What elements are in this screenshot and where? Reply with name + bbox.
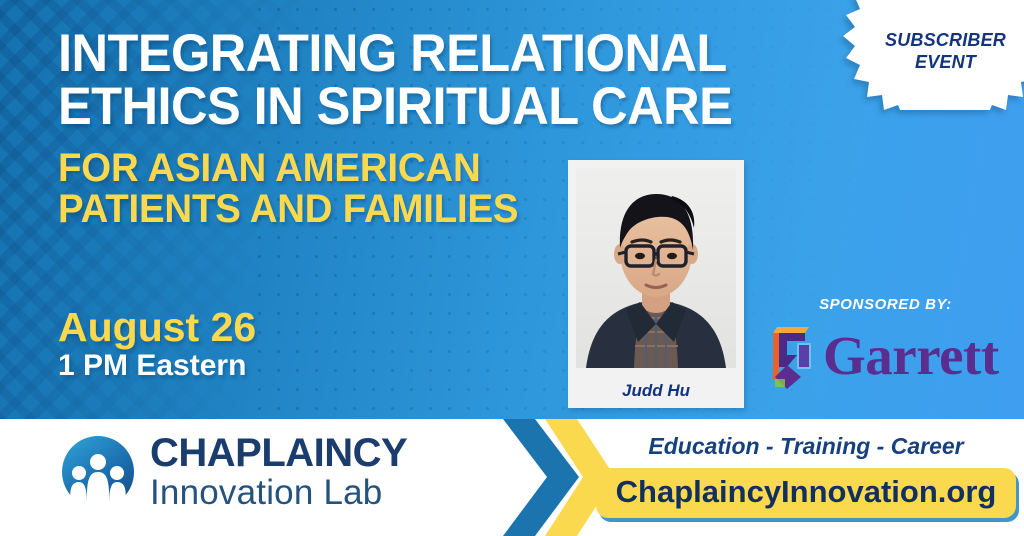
sponsor-logo: Garrett (763, 321, 1008, 391)
headline-line-1: INTEGRATING RELATIONAL (58, 27, 784, 80)
sponsor-name: Garrett (823, 327, 999, 385)
speaker-name: Judd Hu (622, 381, 690, 401)
chaplaincy-innovation-lab-logo[interactable]: CHAPLAINCY Innovation Lab (60, 432, 407, 512)
badge-line-2: EVENT (915, 51, 976, 73)
event-time: 1 PM Eastern (58, 349, 256, 383)
speaker-card: Judd Hu (568, 160, 744, 408)
website-button[interactable]: ChaplaincyInnovation.org (596, 468, 1017, 518)
cta-tagline: Education - Training - Career (648, 433, 963, 459)
sponsored-by-label: SPONSORED BY: (763, 296, 1008, 313)
footer-bar: CHAPLAINCY Innovation Lab Education - Tr… (0, 419, 1024, 536)
speaker-portrait-icon (576, 168, 736, 368)
chaplaincy-circle-people-icon (60, 434, 136, 510)
event-schedule: August 26 1 PM Eastern (58, 305, 256, 383)
headline-line-2: ETHICS IN SPIRITUAL CARE (58, 80, 784, 133)
garrett-logomark-icon (763, 321, 817, 391)
event-promo-poster: INTEGRATING RELATIONAL ETHICS IN SPIRITU… (0, 0, 1024, 536)
subscriber-event-badge: SUBSCRIBER EVENT (843, 0, 1024, 110)
badge-text-block: SUBSCRIBER EVENT (843, 0, 1024, 110)
cta-block: Education - Training - Career Chaplaincy… (620, 433, 992, 518)
event-date: August 26 (58, 305, 256, 349)
hero-banner: INTEGRATING RELATIONAL ETHICS IN SPIRITU… (0, 0, 1024, 419)
badge-line-1: SUBSCRIBER (885, 29, 1006, 51)
org-name-block: CHAPLAINCY Innovation Lab (150, 432, 407, 512)
sponsor-block: SPONSORED BY: Garrett (763, 296, 1008, 391)
org-name-top: CHAPLAINCY (150, 432, 407, 474)
speaker-photo (576, 168, 736, 368)
org-name-bottom: Innovation Lab (150, 474, 407, 512)
